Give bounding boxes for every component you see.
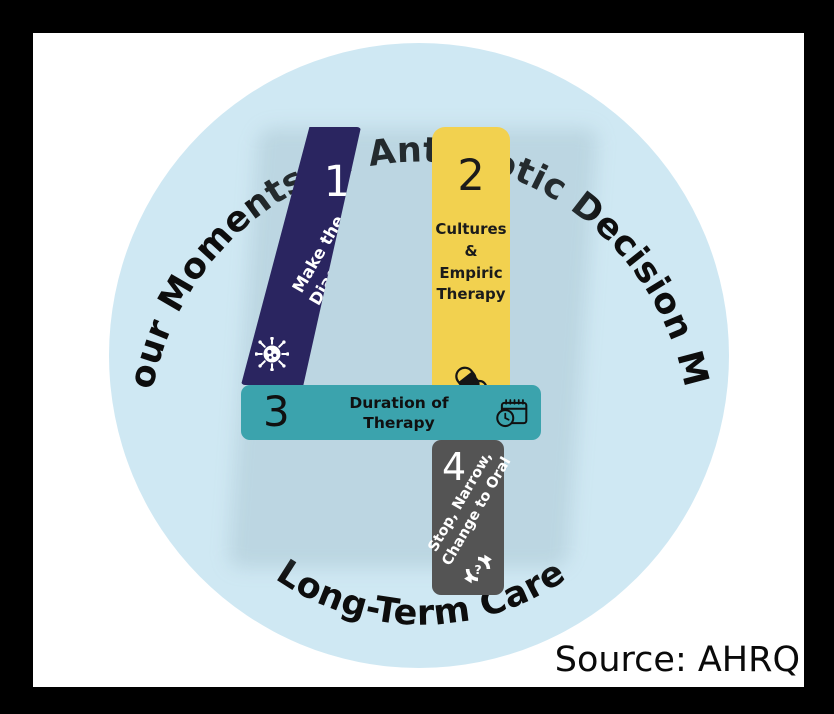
svg-text:?: ? xyxy=(474,562,481,577)
moment-4-block[interactable]: 4 Stop, Narrow, Change to Oral ? xyxy=(432,440,504,595)
moment-3-label: Duration of Therapy xyxy=(315,394,483,433)
refresh-question-icon: ? xyxy=(462,553,494,585)
slide-canvas: The Four Moments of Antibiotic Decision … xyxy=(33,33,804,687)
virus-icon xyxy=(255,337,289,371)
calendar-clock-icon xyxy=(495,397,529,429)
moment-2-label: Cultures & Empiric Therapy xyxy=(432,219,510,306)
slide-frame: The Four Moments of Antibiotic Decision … xyxy=(0,0,834,714)
moment-3-block[interactable]: 3 Duration of Therapy xyxy=(241,385,541,440)
four-moments-glyph: 1 Make the Diagnosis xyxy=(33,33,804,687)
moment-3-number: 3 xyxy=(263,391,290,433)
moment-2-block[interactable]: 2 Cultures & Empiric Therapy xyxy=(432,127,510,412)
source-caption: Source: AHRQ xyxy=(555,641,800,680)
moment-2-number: 2 xyxy=(432,155,510,198)
